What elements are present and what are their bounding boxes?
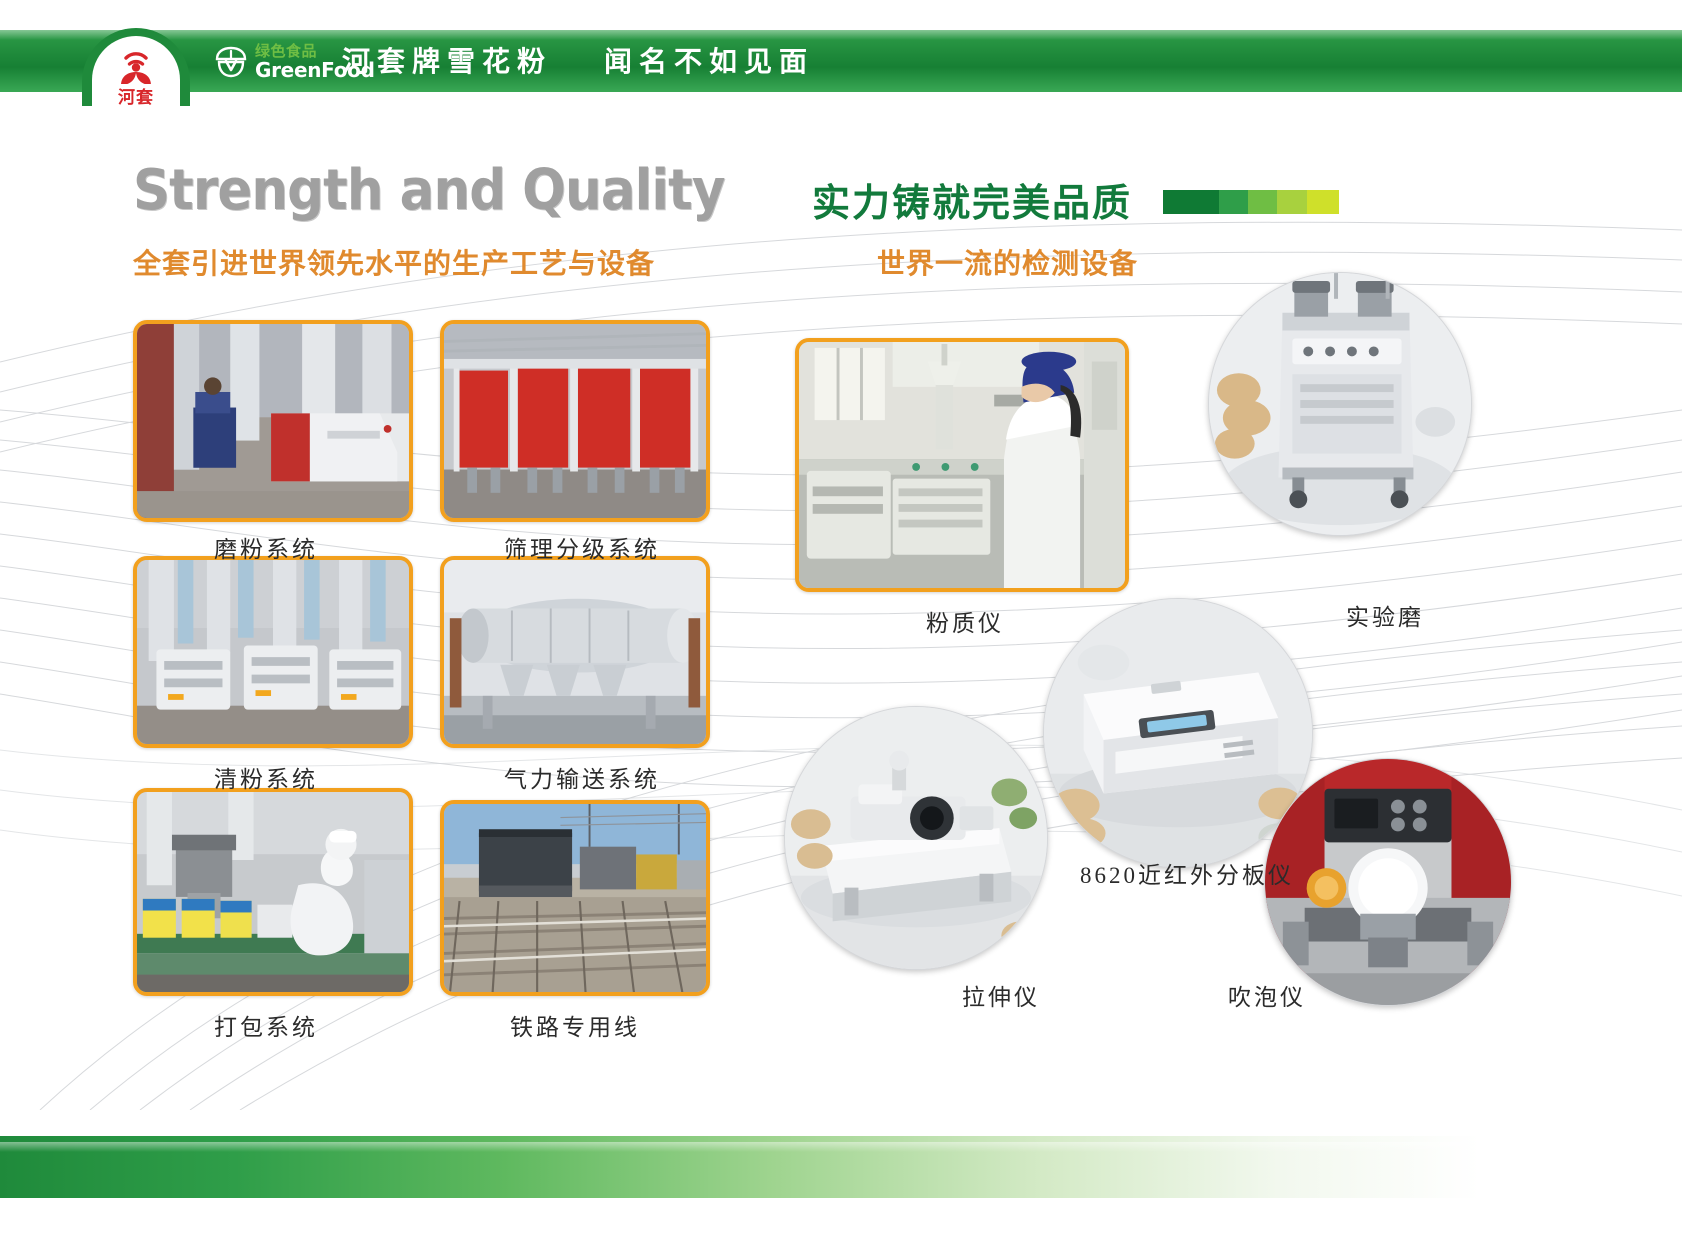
photo-alveograph xyxy=(1264,758,1512,1006)
caption-pneumatic-conveying-system: 气力输送系统 xyxy=(504,760,660,794)
photo-milling-system xyxy=(133,320,413,522)
caption-farinograph: 粉质仪 xyxy=(926,604,1004,638)
photo-extensograph xyxy=(784,706,1048,970)
greenfood-leaf-icon xyxy=(214,45,248,79)
caption-alveograph: 吹泡仪 xyxy=(1228,978,1306,1012)
photo-railway-line xyxy=(440,800,710,996)
title-accent-bar-segment xyxy=(1219,190,1248,214)
title-accent-bar-segment xyxy=(1307,190,1339,214)
title-accent-bar xyxy=(1163,190,1339,214)
caption-railway-line: 铁路专用线 xyxy=(510,1008,640,1042)
photo-laboratory-mill xyxy=(1208,272,1472,536)
logo-wordmark: 河套 xyxy=(100,84,172,106)
subtitle-production: 全套引进世界领先水平的生产工艺与设备 xyxy=(133,242,655,282)
caption-laboratory-mill: 实验磨 xyxy=(1346,598,1424,632)
photo-farinograph xyxy=(795,338,1129,592)
footer-green-band xyxy=(0,1136,1682,1198)
page-title-english: Strength and Quality xyxy=(133,158,725,223)
caption-sifting-grading-system: 筛理分级系统 xyxy=(504,530,660,564)
photo-purifier-system xyxy=(133,556,413,748)
title-accent-bar-segment xyxy=(1248,190,1277,214)
subtitle-testing: 世界一流的检测设备 xyxy=(877,242,1138,282)
caption-extensograph: 拉伸仪 xyxy=(962,978,1040,1012)
header-tagline-brand: 河套牌雪花粉 xyxy=(342,40,552,80)
header-tagline-slogan: 闻名不如见面 xyxy=(604,40,814,80)
photo-sifting-grading-system xyxy=(440,320,710,522)
caption-nir-analyzer-8620: 8620近红外分板仪 xyxy=(1080,856,1294,890)
caption-purifier-system: 清粉系统 xyxy=(214,760,318,794)
caption-packing-system: 打包系统 xyxy=(214,1008,318,1042)
title-accent-bar-segment xyxy=(1163,190,1219,214)
header-top-spacer xyxy=(0,0,1682,30)
photo-pneumatic-conveying-system xyxy=(440,556,710,748)
hetao-wheat-logo-icon xyxy=(104,42,168,88)
poster-page: 河套 绿色食品 GreenFood 河套牌雪花粉 闻名不如见面 Strength… xyxy=(0,0,1682,1240)
caption-milling-system: 磨粉系统 xyxy=(214,530,318,564)
title-accent-bar-segment xyxy=(1277,190,1306,214)
page-title-chinese: 实力铸就完美品质 xyxy=(812,172,1132,227)
photo-packing-system xyxy=(133,788,413,996)
